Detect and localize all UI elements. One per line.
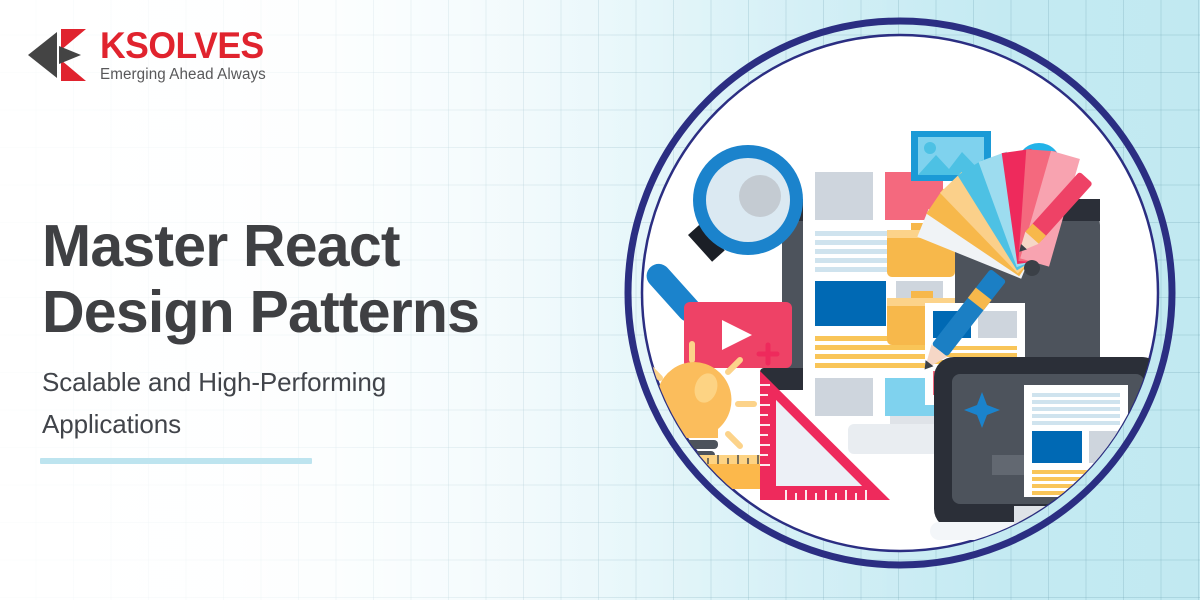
accent-divider bbox=[40, 458, 312, 464]
web-design-workspace-illustration bbox=[600, 0, 1200, 600]
brand-name: KSOLVES bbox=[100, 27, 264, 64]
tablet-icon bbox=[930, 357, 1170, 540]
brand-logo-text: KSOLVES Emerging Ahead Always bbox=[100, 27, 271, 83]
brand-tagline: Emerging Ahead Always bbox=[100, 67, 267, 83]
ksolves-triangle-k-logo-icon bbox=[28, 28, 90, 82]
page-title-line-2: Design Patterns bbox=[42, 279, 582, 345]
promotional-banner: KSOLVES Emerging Ahead Always Master Rea… bbox=[0, 0, 1200, 600]
page-title-line-1: Master React bbox=[42, 213, 582, 279]
page-subtitle: Scalable and High-Performing Application… bbox=[42, 361, 562, 445]
left-content-panel: KSOLVES Emerging Ahead Always Master Rea… bbox=[0, 0, 620, 600]
illustration-canvas bbox=[600, 0, 1200, 600]
page-subtitle-line-1: Scalable and High-Performing bbox=[42, 361, 562, 403]
brand-logo[interactable]: KSOLVES Emerging Ahead Always bbox=[28, 22, 271, 88]
page-subtitle-line-2: Applications bbox=[42, 403, 562, 445]
page-title: Master React Design Patterns bbox=[42, 213, 582, 345]
